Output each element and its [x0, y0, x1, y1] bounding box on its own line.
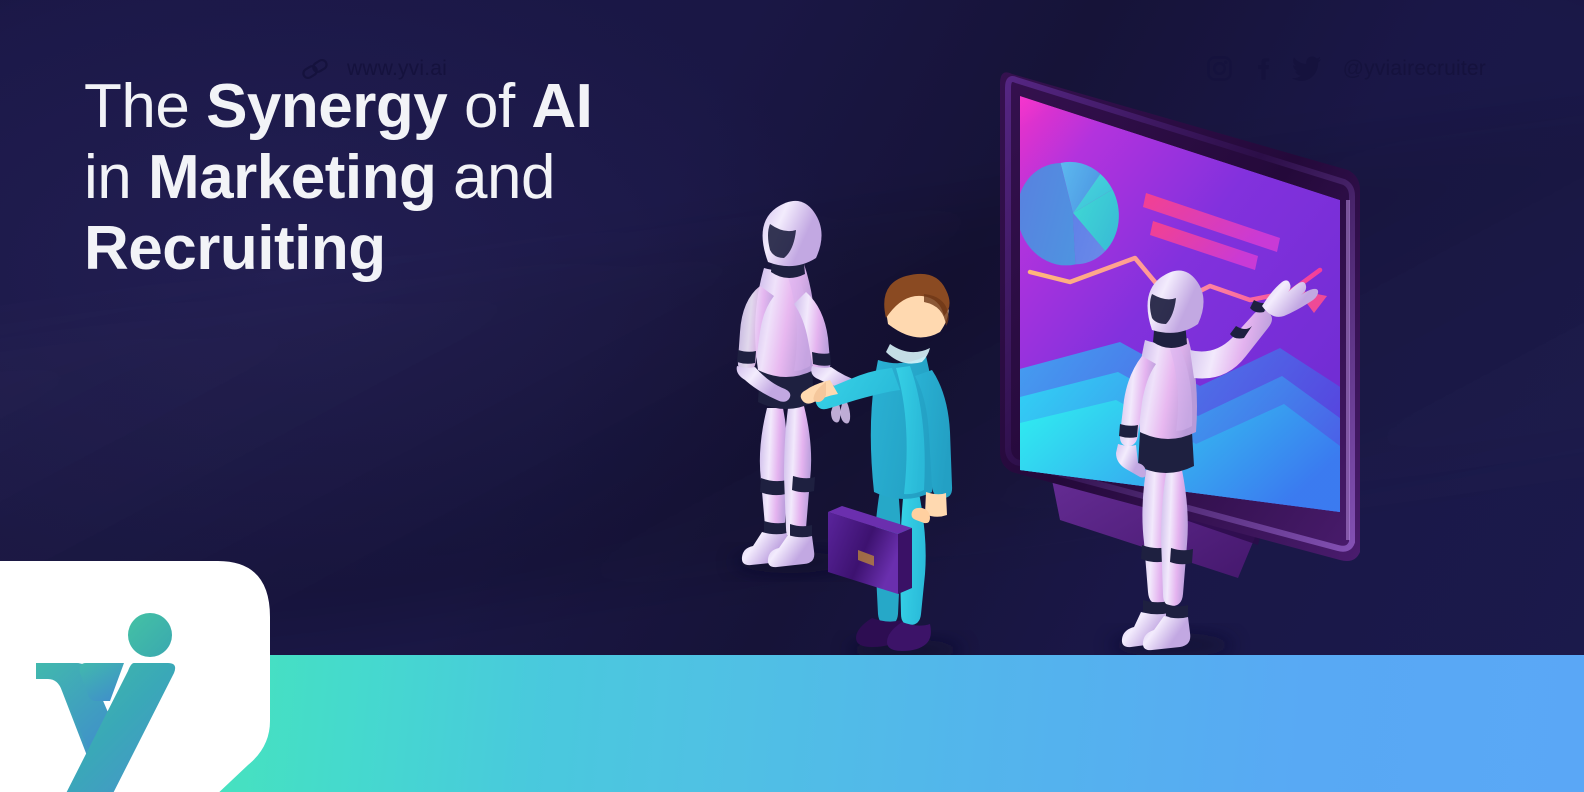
robot-handshake-leg-near [784, 406, 811, 540]
footer-website-group[interactable]: www.yvi.ai [300, 0, 447, 137]
logo-panel[interactable] [0, 561, 280, 792]
logo-dot [128, 613, 172, 657]
social-handle: @yviairecruiter [1343, 57, 1486, 81]
headline-and: and [436, 143, 555, 212]
instagram-icon[interactable] [1206, 55, 1233, 82]
headline-in: in [84, 143, 148, 212]
headline-marketing: Marketing [148, 143, 436, 212]
facebook-icon[interactable] [1254, 55, 1271, 82]
link-icon [300, 54, 330, 84]
yvi-logo [0, 561, 280, 792]
robot-presenter-leg-near [1161, 468, 1188, 606]
headline-the: The [84, 72, 206, 141]
headline-of: of [447, 72, 531, 141]
twitter-icon[interactable] [1292, 55, 1322, 82]
footer-social-group[interactable]: @yviairecruiter [1206, 0, 1486, 137]
briefcase-side [898, 528, 912, 594]
headline-ai: AI [531, 72, 592, 141]
website-label: www.yvi.ai [347, 57, 447, 81]
headline-recruiting: Recruiting [84, 214, 386, 283]
marketing-banner: The Synergy of AI in Marketing and Recru… [0, 0, 1584, 792]
headline-line-3: Recruiting [84, 218, 592, 280]
robot-handshake-leg-far [760, 408, 788, 538]
headline-line-2: in Marketing and [84, 147, 592, 209]
